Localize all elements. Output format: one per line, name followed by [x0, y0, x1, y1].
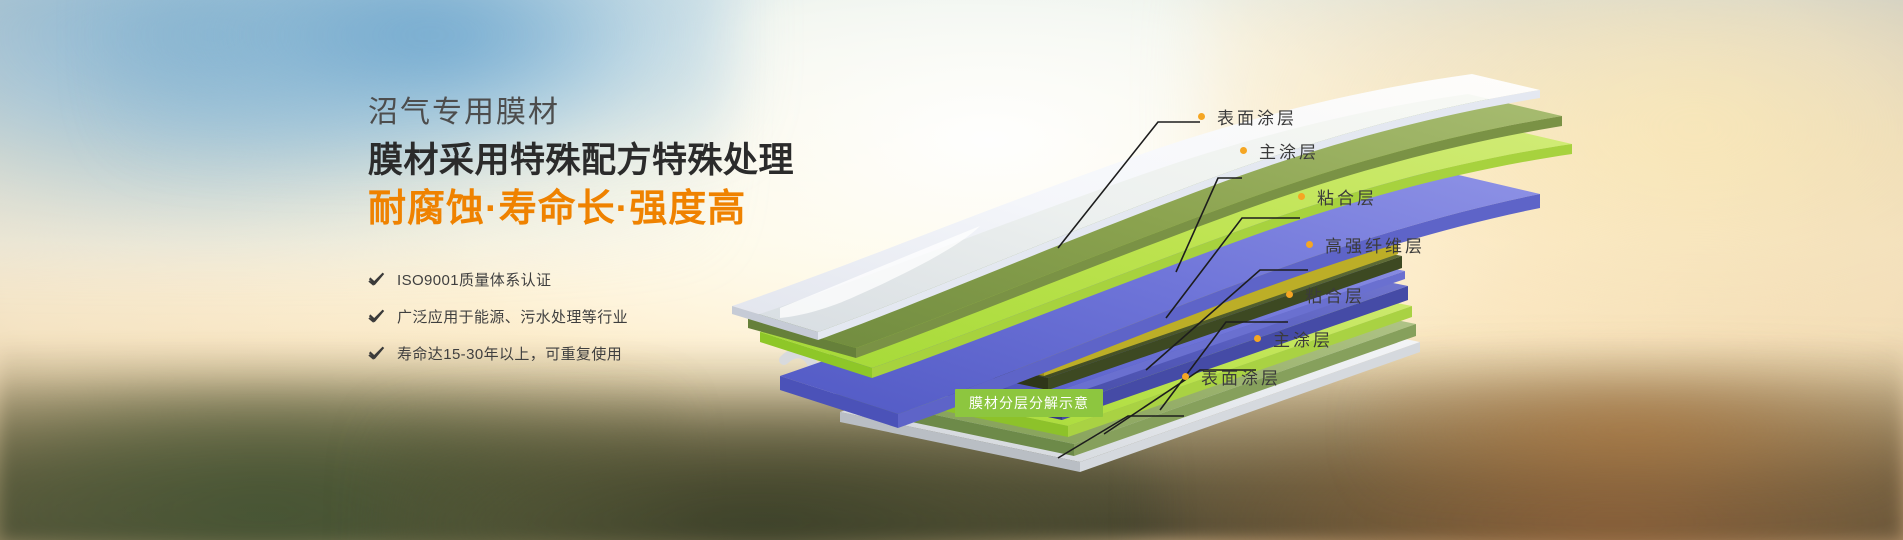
diagram-caption-text: 膜材分层分解示意	[969, 393, 1089, 413]
callout-label-high-strength-fiber: 高强纤维层	[1306, 232, 1425, 257]
bullet-dot-icon	[1306, 241, 1313, 248]
list-item-label: 广泛应用于能源、污水处理等行业	[397, 306, 628, 327]
list-item: 广泛应用于能源、污水处理等行业	[368, 306, 888, 327]
copy-block: 沼气专用膜材 膜材采用特殊配方特殊处理 耐腐蚀·寿命长·强度高 ISO9001质…	[368, 96, 888, 380]
list-item: 寿命达15-30年以上，可重复使用	[368, 343, 888, 364]
callout-label-surface-coat-top: 表面涂层	[1198, 104, 1297, 129]
bullet-dot-icon	[1298, 193, 1305, 200]
list-item-label: ISO9001质量体系认证	[397, 269, 551, 290]
callout-text: 主涂层	[1259, 138, 1319, 163]
callout-label-main-coat-top: 主涂层	[1240, 138, 1319, 163]
bullet-dot-icon	[1198, 113, 1205, 120]
callout-text: 表面涂层	[1201, 364, 1281, 389]
diagram-caption-badge: 膜材分层分解示意	[955, 389, 1103, 417]
bullet-dot-icon	[1240, 147, 1247, 154]
feature-list: ISO9001质量体系认证 广泛应用于能源、污水处理等行业	[368, 269, 888, 364]
callout-label-surface-coat-bottom: 表面涂层	[1182, 364, 1281, 389]
callout-text: 粘合层	[1317, 184, 1377, 209]
check-icon	[368, 346, 388, 361]
bullet-dot-icon	[1182, 373, 1189, 380]
check-icon	[368, 272, 388, 287]
headline-text: 膜材采用特殊配方特殊处理	[368, 141, 888, 181]
callout-text: 粘合层	[1305, 282, 1365, 307]
callout-label-adhesive-upper: 粘合层	[1298, 184, 1377, 209]
callout-label-adhesive-lower: 粘合层	[1286, 282, 1365, 307]
promo-banner: 沼气专用膜材 膜材采用特殊配方特殊处理 耐腐蚀·寿命长·强度高 ISO9001质…	[0, 0, 1903, 540]
callout-text: 表面涂层	[1217, 104, 1297, 129]
callout-label-main-coat-bottom: 主涂层	[1254, 326, 1333, 351]
bullet-dot-icon	[1254, 335, 1261, 342]
eyebrow-text: 沼气专用膜材	[368, 96, 888, 129]
subheadline-text: 耐腐蚀·寿命长·强度高	[368, 187, 888, 233]
callout-text: 主涂层	[1273, 326, 1333, 351]
callout-text: 高强纤维层	[1325, 232, 1425, 257]
bullet-dot-icon	[1286, 291, 1293, 298]
check-icon	[368, 309, 388, 324]
list-item-label: 寿命达15-30年以上，可重复使用	[397, 343, 622, 364]
list-item: ISO9001质量体系认证	[368, 269, 888, 290]
